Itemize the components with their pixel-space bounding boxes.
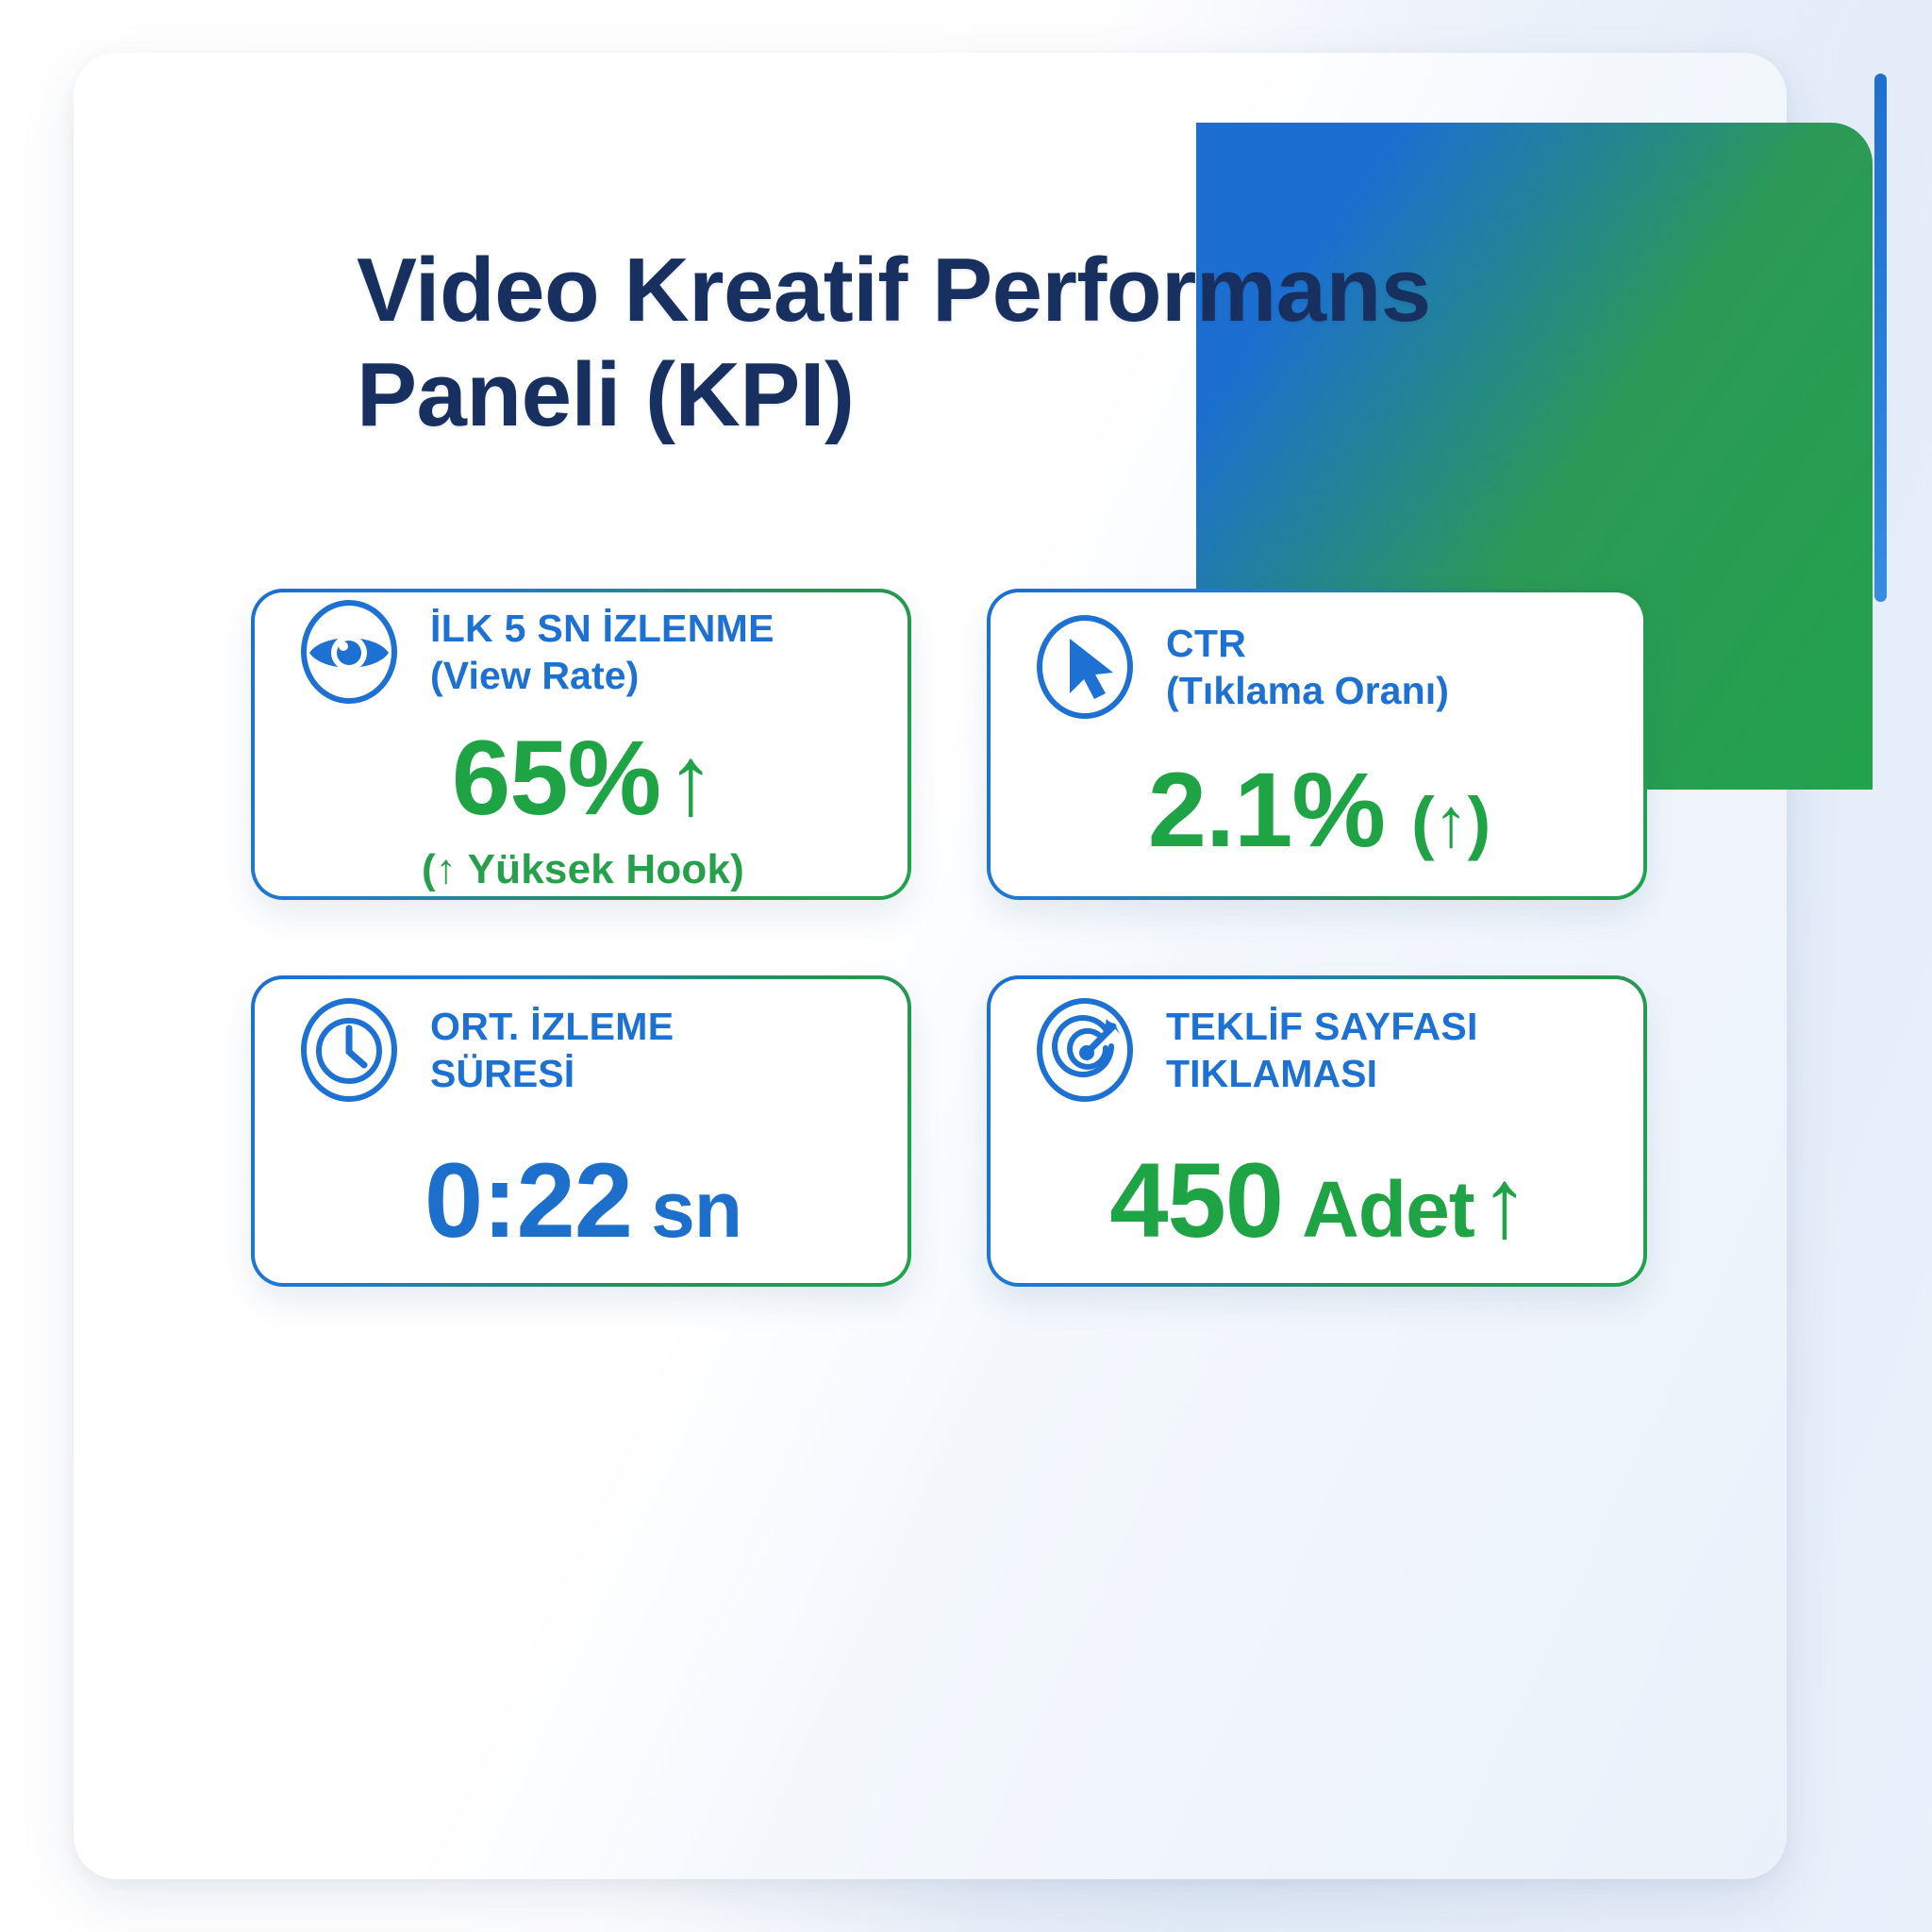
kpi-card-label-line-2: SÜRESİ [430,1052,575,1095]
kpi-value-unit: sn [651,1170,741,1249]
kpi-card-value: 450Adet↑ [1032,1148,1606,1254]
kpi-card-grid: İLK 5 SN İZLENME (View Rate) 65%↑ (↑ Yük… [251,589,1647,1287]
kpi-card-avg-watch-time[interactable]: ORT. İZLEME SÜRESİ 0:22sn [251,975,911,1287]
kpi-card-view-rate[interactable]: İLK 5 SN İZLENME (View Rate) 65%↑ (↑ Yük… [251,589,911,900]
eye-icon [296,599,402,705]
kpi-card-label: ORT. İZLEME SÜRESİ [430,1003,674,1097]
kpi-card-label-line-1: İLK 5 SN İZLENME [430,607,774,650]
kpi-card-value: 0:22sn [296,1148,870,1254]
kpi-value-unit: Adet [1302,1170,1474,1249]
kpi-card-header: ORT. İZLEME SÜRESİ [296,997,870,1103]
kpi-card-note: (↑ Yüksek Hook) [296,846,870,893]
trend-up-arrow-icon: ↑ [1480,1155,1528,1253]
cursor-icon [1032,614,1138,720]
kpi-card-label-line-1: TEKLİF SAYFASI [1166,1005,1478,1048]
kpi-card-value: 2.1%(↑) [1032,758,1606,863]
trend-up-arrow-icon: ↑ [666,732,714,830]
page-title-line-2: Paneli (KPI) [357,342,1734,447]
kpi-card-label-line-2: (Tıklama Oranı) [1166,669,1449,712]
kpi-card-header: İLK 5 SN İZLENME (View Rate) [296,599,870,705]
kpi-card-header: TEKLİF SAYFASI TIKLAMASI [1032,997,1606,1103]
kpi-card-label-line-2: TIKLAMASI [1166,1052,1377,1095]
kpi-card-label-line-1: CTR [1166,622,1246,665]
kpi-card-label-line-2: (View Rate) [430,654,639,697]
kpi-value-number: 2.1% [1148,758,1385,863]
target-icon [1032,997,1138,1103]
clock-icon [296,997,402,1103]
decorative-edge-accent [1874,74,1887,602]
kpi-card-label: İLK 5 SN İZLENME (View Rate) [430,605,774,699]
kpi-card-header: CTR (Tıklama Oranı) [1032,614,1606,720]
kpi-card-label-line-1: ORT. İZLEME [430,1005,674,1048]
trend-up-arrow-icon: (↑) [1411,788,1490,858]
kpi-card-ctr[interactable]: CTR (Tıklama Oranı) 2.1%(↑) [987,589,1647,900]
dashboard-panel: Video Kreatif Performans Paneli (KPI) [74,53,1787,1879]
page-title-line-1: Video Kreatif Performans [357,238,1734,342]
kpi-card-value: 65%↑ [296,725,870,831]
kpi-value-number: 0:22 [425,1148,632,1254]
kpi-card-offer-page-clicks[interactable]: TEKLİF SAYFASI TIKLAMASI 450Adet↑ [987,975,1647,1287]
kpi-dashboard-canvas: Video Kreatif Performans Paneli (KPI) [0,0,1932,1932]
kpi-value-number: 450 [1109,1148,1283,1254]
page-title: Video Kreatif Performans Paneli (KPI) [357,238,1734,448]
kpi-card-label: TEKLİF SAYFASI TIKLAMASI [1166,1003,1478,1097]
kpi-card-label: CTR (Tıklama Oranı) [1166,620,1449,714]
kpi-value-number: 65% [452,725,660,831]
